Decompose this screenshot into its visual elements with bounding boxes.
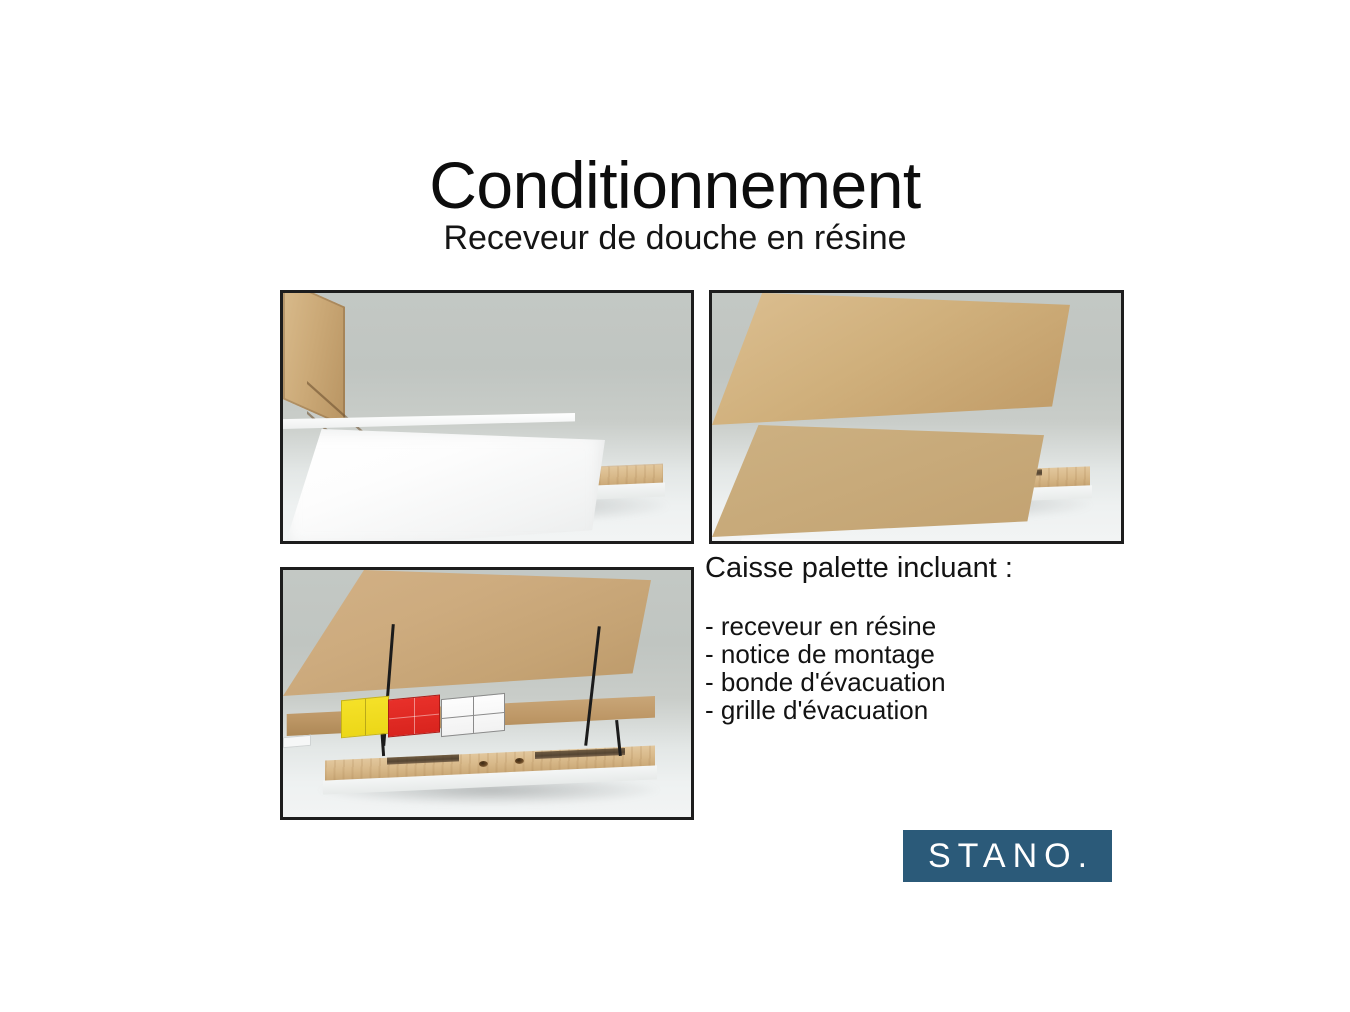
package-contents-list: - receveur en résine - notice de montage… (705, 612, 1135, 724)
list-item: - grille d'évacuation (705, 696, 1135, 724)
wood-knot (479, 761, 488, 767)
page-subtitle: Receveur de douche en résine (0, 221, 1350, 255)
shipping-label-yellow (341, 696, 389, 739)
product-photo-tray-on-pallet (280, 290, 694, 544)
photo-scene-1 (283, 293, 691, 541)
shipping-label-white (441, 693, 505, 737)
crate-lid-top (283, 570, 651, 696)
wood-knot (515, 758, 524, 764)
page-title: Conditionnement (0, 152, 1350, 218)
list-item: - bonde d'évacuation (705, 668, 1135, 696)
barcode-tag (283, 735, 311, 748)
stano-logo: STANO. (903, 830, 1112, 882)
photo-scene-2 (712, 293, 1121, 541)
list-item: - receveur en résine (705, 612, 1135, 640)
list-item: - notice de montage (705, 640, 1135, 668)
wooden-end-compartment-box (283, 290, 345, 427)
shipping-label-red (388, 694, 440, 737)
crate-frame-inner-edge (712, 425, 1044, 537)
photo-scene-3 (283, 570, 691, 817)
product-photo-open-crate (709, 290, 1124, 544)
shower-tray-top-surface (283, 429, 605, 544)
package-contents-heading: Caisse palette incluant : (705, 552, 1135, 584)
package-contents-panel: Caisse palette incluant : - receveur en … (705, 552, 1135, 724)
wrapped-shower-tray (712, 537, 1012, 544)
crate-wooden-frame (712, 293, 1070, 425)
stano-logo-text: STANO. (921, 839, 1094, 873)
product-photo-closed-crate (280, 567, 694, 820)
